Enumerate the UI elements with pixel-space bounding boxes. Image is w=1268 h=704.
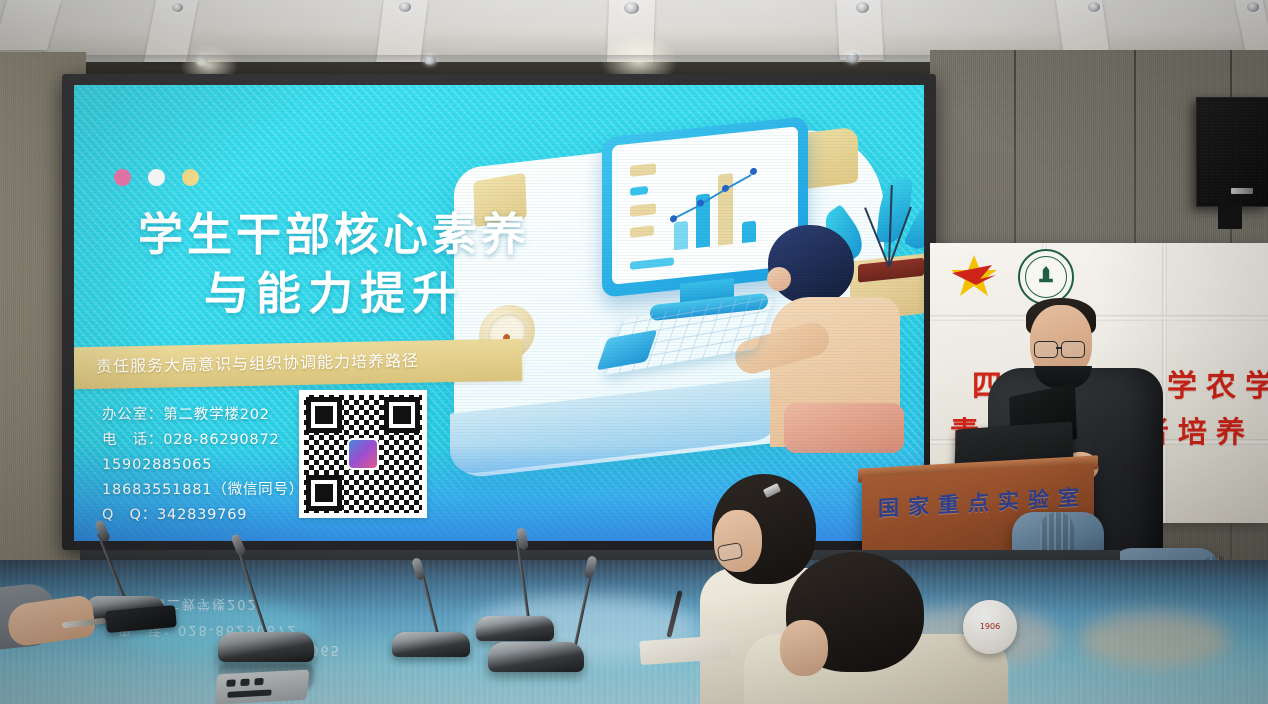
banner-fold-horizontal xyxy=(930,315,1268,321)
dot-pink xyxy=(114,169,131,186)
mic-base xyxy=(488,642,584,672)
dot-white xyxy=(148,169,165,186)
audience-notes-face xyxy=(714,510,762,572)
qr-finder-top-right xyxy=(384,397,420,433)
ceiling-lamp xyxy=(1247,2,1259,12)
ceiling-lamp xyxy=(856,2,869,13)
audience-front-face xyxy=(780,620,828,676)
university-seal xyxy=(1018,249,1074,305)
qr-finder-top-left xyxy=(306,397,342,433)
mug[interactable]: 1906 xyxy=(963,600,1017,654)
lecture-hall-photo: 学生干部核心素养 与能力提升 责任服务大局意识与组织协调能力培养路径 办公室：第… xyxy=(0,0,1268,704)
youth-league-emblem-svg xyxy=(946,253,1002,299)
qr-finder-bottom-left xyxy=(306,475,342,511)
speaker-badge xyxy=(1231,188,1253,194)
slide-dot-row xyxy=(114,169,199,186)
presentation-screen: 学生干部核心素养 与能力提升 责任服务大局意识与组织协调能力培养路径 办公室：第… xyxy=(74,85,924,541)
presenter-glasses-right xyxy=(1061,341,1085,358)
control-button[interactable] xyxy=(254,678,264,686)
mic-base xyxy=(476,616,554,641)
control-slider[interactable] xyxy=(227,689,271,697)
slide-title-line2: 与能力提升 xyxy=(74,264,594,323)
presenter-glasses-bridge xyxy=(1056,347,1061,349)
table-reflection-blob xyxy=(1080,612,1230,668)
ceiling-lamp xyxy=(1088,2,1100,12)
mug-text: 1906 xyxy=(966,622,1014,632)
speaker-mount-bracket xyxy=(1218,203,1242,229)
control-button[interactable] xyxy=(240,679,250,687)
ceiling-lamp xyxy=(172,3,183,12)
slide-title-block: 学生干部核心素养 与能力提升 xyxy=(74,205,594,324)
control-button[interactable] xyxy=(226,679,236,687)
ceiling-lamp xyxy=(624,2,639,14)
qr-code xyxy=(299,390,427,518)
slide-title-line1: 学生干部核心素养 xyxy=(74,205,594,264)
loudspeaker xyxy=(1196,97,1268,207)
ceiling-lamp xyxy=(399,2,411,12)
mic-base xyxy=(218,632,314,662)
qr-center-logo xyxy=(347,438,379,470)
presenter-glasses-left xyxy=(1034,341,1058,358)
qr-matrix xyxy=(304,395,422,513)
table-control-panel[interactable] xyxy=(215,670,310,704)
dot-yellow xyxy=(182,169,199,186)
mic-base xyxy=(392,632,470,657)
youth-league-emblem xyxy=(946,253,1002,299)
